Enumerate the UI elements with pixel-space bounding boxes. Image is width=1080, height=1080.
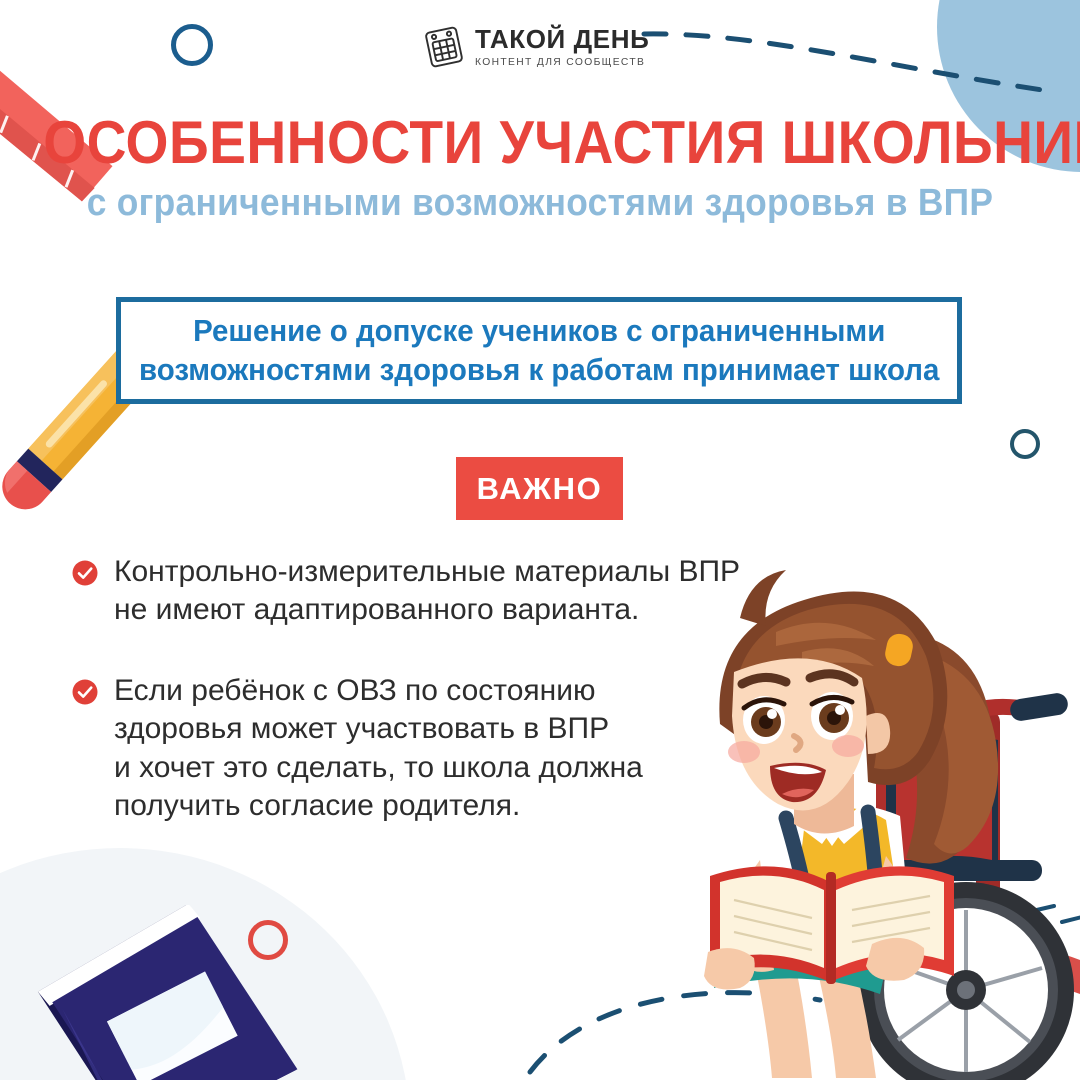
list-item-text: Контрольно-измерительные материалы ВПР н…: [114, 553, 740, 630]
page-title-main: ОСОБЕННОСТИ УЧАСТИЯ ШКОЛЬНИКОВ: [43, 112, 1037, 174]
brand-title: ТАКОЙ ДЕНЬ: [475, 26, 649, 52]
red-book: [704, 866, 954, 989]
book-illustration: [30, 905, 320, 1080]
ring-right: [1010, 429, 1040, 459]
callout-box: Решение о допуске учеников с ограниченны…: [116, 297, 962, 404]
important-badge-label: ВАЖНО: [477, 473, 603, 504]
infographic-poster: ТАКОЙ ДЕНЬ КОНТЕНТ ДЛЯ СООБЩЕСТВ ОСОБЕНН…: [0, 0, 1080, 1080]
page-title-sub: с ограниченными возможностями здоровья в…: [38, 184, 1042, 224]
check-circle-icon: [72, 560, 98, 586]
list-item-text: Если ребёнок с ОВЗ по состоянию здоровья…: [114, 672, 643, 826]
brand-logo: ТАКОЙ ДЕНЬ КОНТЕНТ ДЛЯ СООБЩЕСТВ: [422, 24, 649, 70]
important-badge: ВАЖНО: [456, 457, 623, 520]
ring-top-left: [171, 24, 213, 66]
girl-in-wheelchair-illustration: [690, 560, 1080, 1080]
calendar-icon: [422, 24, 466, 70]
callout-line-2: возможностями здоровья к работам принима…: [139, 351, 939, 390]
page-title: ОСОБЕННОСТИ УЧАСТИЯ ШКОЛЬНИКОВ с огранич…: [0, 112, 1080, 224]
check-circle-icon: [72, 679, 98, 705]
brand-subtitle: КОНТЕНТ ДЛЯ СООБЩЕСТВ: [475, 58, 649, 68]
callout-text: Решение о допуске учеников с ограниченны…: [139, 312, 939, 390]
callout-line-1: Решение о допуске учеников с ограниченны…: [139, 312, 939, 351]
